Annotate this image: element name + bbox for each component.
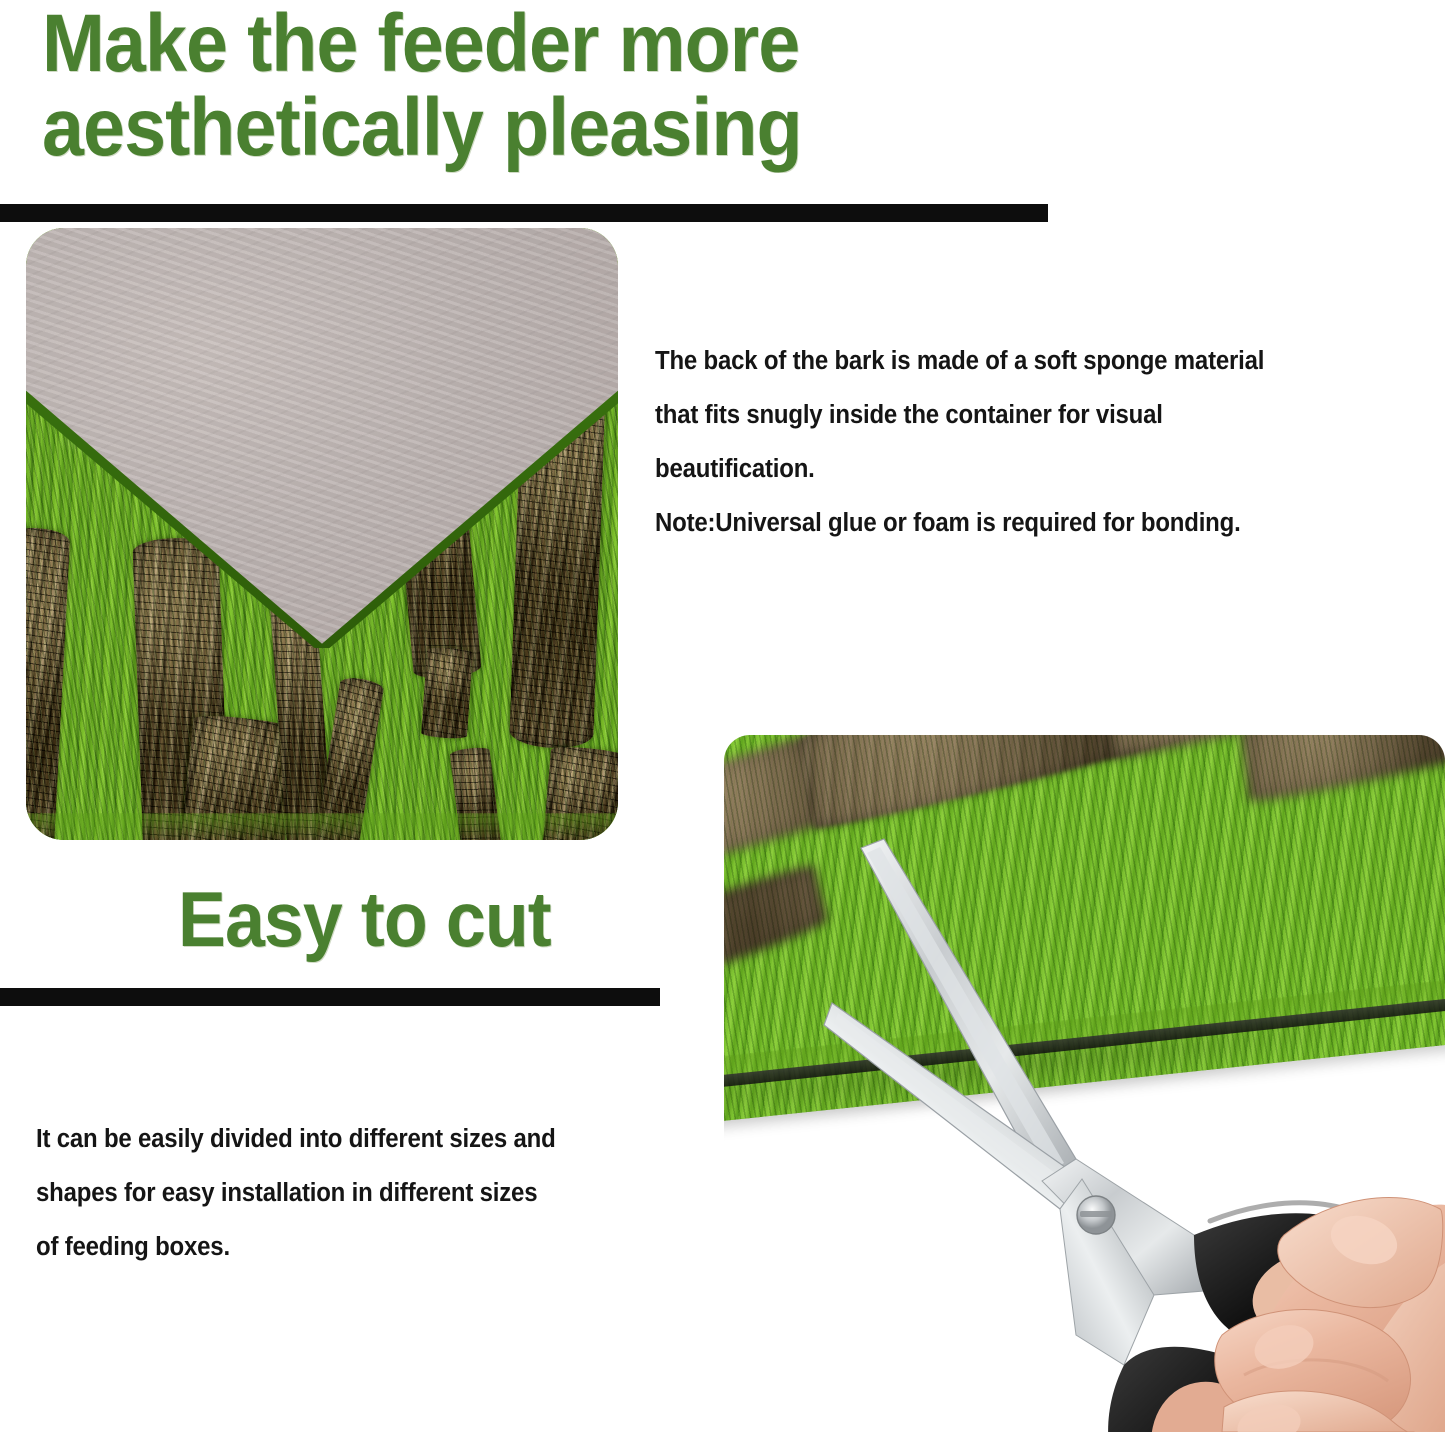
copy-line: It can be easily divided into different … [36,1112,694,1166]
copy-line: beautification. [655,442,1445,496]
body-copy-easy-to-cut: It can be easily divided into different … [36,1112,694,1274]
scissors-cutting-moss-mat-photo [724,735,1445,1432]
hand-holding-scissors [724,735,1445,1432]
copy-line: The back of the bark is made of a soft s… [655,334,1445,388]
body-copy-aesthetics: The back of the bark is made of a soft s… [655,334,1445,550]
section-heading-aesthetics: Make the feeder more aesthetically pleas… [42,2,802,169]
copy-line: of feeding boxes. [36,1220,694,1274]
moss-bark-mat-with-sponge-backing-photo [26,228,618,840]
copy-line: Note:Universal glue or foam is required … [655,496,1445,550]
heading-underline-bar-easy-to-cut [0,988,660,1006]
moss-fringe-edge [26,813,618,840]
section-heading-easy-to-cut: Easy to cut [178,880,551,960]
heading-underline-bar-aesthetics [0,204,1048,222]
copy-line: that fits snugly inside the container fo… [655,388,1445,442]
copy-line: shapes for easy installation in differen… [36,1166,694,1220]
